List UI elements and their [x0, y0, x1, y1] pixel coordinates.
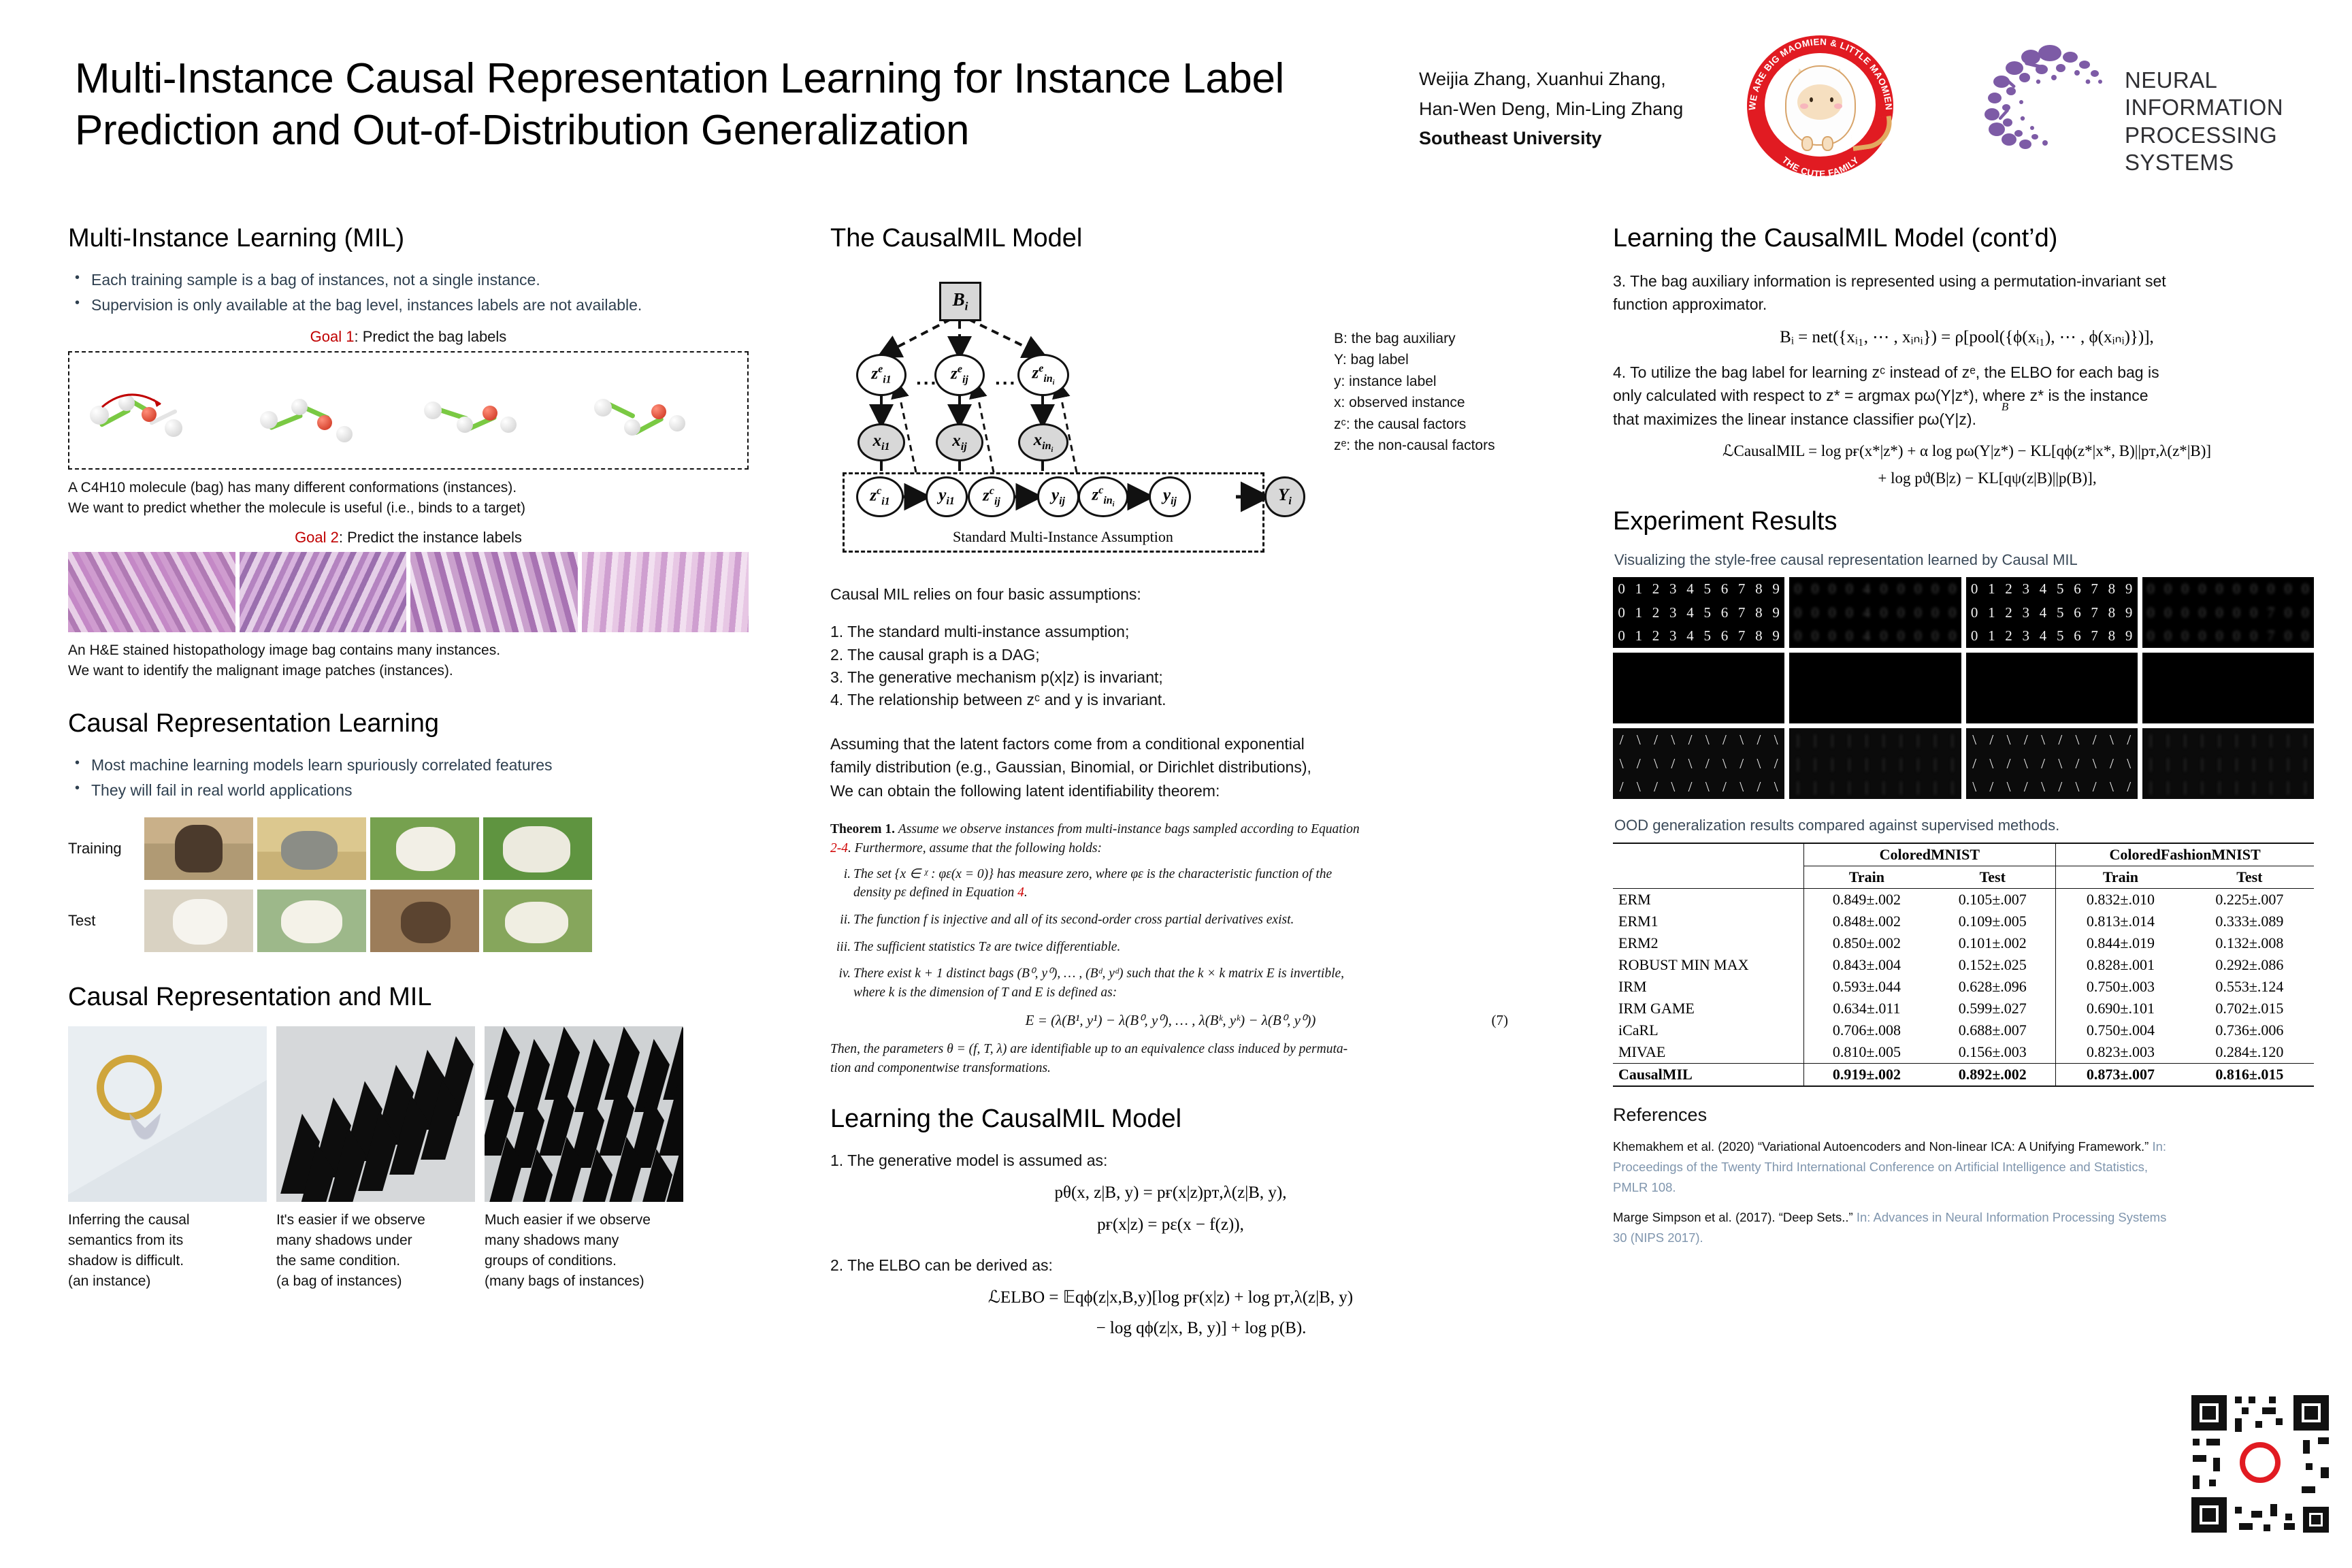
cell-value: 0.828±.001 [2056, 954, 2185, 976]
section-heading-causalmil-model: The CausalMIL Model [830, 225, 1511, 253]
cell-method: ERM2 [1613, 932, 1803, 954]
condition-ref: 4 [1017, 885, 1024, 900]
caption-line: semantics from its [68, 1230, 267, 1251]
qr-center-cat-inner [2245, 1448, 2275, 1477]
letter-grid: \/\/\/\/\/ /\/\/\/\/\ \/\/\/\/\/ [1966, 728, 2138, 799]
goal-2-label: Goal 2: Predict the instance labels [68, 529, 749, 546]
col-header-cmnist-test: Test [1929, 866, 2055, 889]
fashion-tile-blurred [1789, 653, 1961, 723]
graph-node-bag-label: Yi [1264, 476, 1305, 517]
goal-1-text: : Predict the bag labels [355, 328, 507, 345]
test-label: Test [68, 912, 129, 930]
legend-item: zᵉ: the non-causal factors [1334, 435, 1495, 457]
cat-paw-left-icon [1801, 136, 1813, 151]
digit-grid: 0123456789 0123456789 0123456789 [1966, 577, 2138, 648]
theorem-condition: iii. The sufficient statistics Tғ are tw… [853, 938, 1511, 957]
step-4-line-3: that maximizes the linear instance class… [1613, 408, 2321, 431]
fashion-grid [2142, 653, 2314, 723]
theorem-label: Theorem 1. [830, 822, 895, 836]
graph-node-x-n: xini [1018, 423, 1068, 461]
legend-item: Y: bag label [1334, 349, 1495, 371]
theorem-text-a: Assume we observe instances from multi-i… [898, 822, 1360, 836]
legend-item: zᶜ: the causal factors [1334, 414, 1495, 436]
cell-method: ROBUST MIN MAX [1613, 954, 1803, 976]
cell-method: ERM1 [1613, 911, 1803, 932]
caption-line: Much easier if we observe [485, 1210, 683, 1230]
cat-eye-left-icon [1810, 97, 1813, 102]
cell-value: 0.844±.019 [2056, 932, 2185, 954]
molecule-figure [68, 351, 749, 470]
cell-value: 0.816±.015 [2185, 1064, 2314, 1087]
condition-text: The function f is injective and all of i… [853, 913, 1294, 927]
node-sub: i [965, 299, 968, 312]
graph-node-zc-n: zcini [1078, 476, 1128, 517]
theorem-equation-row: E = (λ(B¹, y¹) − λ(B⁰, y⁰), … , λ(Bᵏ, yᵏ… [830, 1011, 1511, 1031]
graph-node-y-1: yi1 [926, 476, 968, 517]
many-birds-shadow-image [485, 1026, 683, 1202]
molecule-caption-line-2: We want to predict whether the molecule … [68, 498, 749, 519]
list-item: Most machine learning models learn spuri… [91, 753, 749, 777]
assumptions-list: 1. The standard multi-instance assumptio… [830, 621, 1511, 711]
page-title: Multi-Instance Causal Representation Lea… [75, 53, 1409, 156]
cell-value: 0.843±.004 [1803, 954, 1929, 976]
learning-step-1-eq-2: pғ(x|z) = pε(x − f(z)), [830, 1212, 1511, 1239]
molecule-caption-line-1: A C4H10 molecule (bag) has many differen… [68, 478, 749, 498]
training-images [144, 817, 592, 880]
digit-grid: 0000400000 0000400000 0000400000 [1789, 577, 1961, 648]
goal-2-key: Goal 2 [295, 529, 339, 546]
histology-patch [68, 552, 235, 632]
histopathology-caption: An H&E stained histopathology image bag … [68, 640, 749, 681]
cell-value: 0.333±.089 [2185, 911, 2314, 932]
curved-arrow-icon [95, 382, 170, 418]
section-heading-mil: Multi-Instance Learning (MIL) [68, 225, 749, 253]
shadow-column: Inferring the causal semantics from its … [68, 1026, 267, 1291]
neurips-logo: NEURAL INFORMATION PROCESSING SYSTEMS [1974, 42, 2334, 151]
fashion-tile-sharp [1613, 653, 1784, 723]
caption-line: Inferring the causal [68, 1210, 267, 1230]
theorem-equation: E = (λ(B¹, y¹) − λ(B⁰, y⁰), … , λ(Bᵏ, yᵏ… [1026, 1012, 1316, 1028]
letter-grid: |||||||||| |||||||||| |||||||||| [1789, 728, 1961, 799]
reference-title: Marge Simpson et al. (2017). “Deep Sets.… [1613, 1210, 1853, 1224]
condition-text: There exist k + 1 distinct bags (B⁰, y⁰)… [853, 966, 1344, 981]
condition-text: The set {x ∈ ᵡ : φε(x = 0)} has measure … [853, 867, 1332, 881]
cell-method: IRM [1613, 976, 1803, 998]
reference-item: Marge Simpson et al. (2017). “Deep Sets.… [1613, 1207, 2178, 1248]
cell-value: 0.628±.096 [1929, 976, 2055, 998]
cell-value: 0.813±.014 [2056, 911, 2185, 932]
poster-header: Multi-Instance Causal Representation Lea… [0, 0, 2352, 204]
shadow-column: Much easier if we observe many shadows m… [485, 1026, 683, 1291]
theorem-conditions: i. The set {x ∈ ᵡ : φε(x = 0)} has measu… [830, 865, 1511, 1002]
table-row: ROBUST MIN MAX0.843±.0040.152±.0250.828±… [1613, 954, 2314, 976]
assumption-item: 4. The relationship between zᶜ and y is … [830, 689, 1511, 711]
theorem-block: Theorem 1. Assume we observe instances f… [830, 820, 1511, 1078]
cell-method: CausalMIL [1613, 1064, 1803, 1087]
cell-value: 0.702±.015 [2185, 998, 2314, 1019]
molecule-row [78, 359, 739, 461]
closing-line: Then, the parameters θ = (f, T, λ) are i… [830, 1040, 1511, 1059]
caption-line: many shadows under [276, 1230, 475, 1251]
caption-line: (many bags of instances) [485, 1271, 683, 1292]
logo-arc-bottom-text: THE CUTE FAMILY [1780, 154, 1861, 179]
table-row: ERM0.849±.0020.105±.0070.832±.0100.225±.… [1613, 889, 2314, 911]
legend-item: B: the bag auxiliary [1334, 328, 1495, 350]
molecule-instance [245, 359, 406, 461]
learning-step-2-eq-2: − log qϕ(z|x, B, y)] + log p(B). [830, 1316, 1511, 1342]
neurips-swirl-icon [1974, 42, 2120, 151]
neurips-line-2: PROCESSING SYSTEMS [2125, 122, 2334, 177]
letter-grid: /\/\/\/\/\ \/\/\/\/\/ /\/\/\/\/\ [1613, 728, 1784, 799]
cell-value: 0.156±.003 [1929, 1041, 2055, 1064]
references-heading: References [1613, 1105, 2321, 1126]
animal-image [483, 889, 592, 952]
animal-image [144, 817, 253, 880]
list-item: They will fail in real world application… [91, 779, 749, 802]
molecule-caption: A C4H10 molecule (bag) has many differen… [68, 478, 749, 519]
condition-numeral: i. [832, 865, 851, 884]
cell-value: 0.634±.011 [1803, 998, 1929, 1019]
table-body: ERM0.849±.0020.105±.0070.832±.0100.225±.… [1613, 889, 2314, 1087]
table-row: ERM20.850±.0020.101±.0020.844±.0190.132±… [1613, 932, 2314, 954]
caption-line: It's easier if we observe [276, 1210, 475, 1230]
cell-value: 0.919±.002 [1803, 1064, 1929, 1087]
cell-value: 0.553±.124 [2185, 976, 2314, 998]
histology-patch [240, 552, 407, 632]
theorem-statement: Theorem 1. Assume we observe instances f… [830, 820, 1511, 857]
condition-numeral: ii. [832, 911, 851, 930]
node-label: B [953, 289, 965, 310]
animal-image [144, 889, 253, 952]
cell-value: 0.736±.006 [2185, 1019, 2314, 1041]
histology-patch [410, 552, 578, 632]
author-block: Weijia Zhang, Xuanhui Zhang, Han-Wen Den… [1419, 65, 1725, 154]
graph-ellipsis: ... [995, 367, 1017, 389]
theorem-eq-ref: 2-4 [830, 841, 848, 855]
cat-eye-right-icon [1830, 97, 1833, 102]
table-row: iCaRL0.706±.0080.688±.0070.750±.0040.736… [1613, 1019, 2314, 1041]
section-heading-experiments: Experiment Results [1613, 508, 2321, 536]
mnist-tile-sharp: 0123456789 0123456789 0123456789 [1966, 577, 2138, 648]
cell-value: 0.810±.005 [1803, 1041, 1929, 1064]
goal-1-label: Goal 1: Predict the bag labels [68, 328, 749, 346]
table-head: ColoredMNIST ColoredFashionMNIST Train T… [1613, 843, 2314, 889]
table-row-highlight: CausalMIL0.919±.0020.892±.0020.873±.0070… [1613, 1064, 2314, 1087]
fashion-grid [1966, 653, 2138, 723]
caption-line: groups of conditions. [485, 1251, 683, 1271]
col-header-cfmnist-test: Test [2185, 866, 2314, 889]
list-item: Each training sample is a bag of instanc… [91, 268, 749, 292]
section-heading-crl: Causal Representation Learning [68, 710, 749, 738]
cat-face-icon [1797, 84, 1842, 120]
standard-mi-assumption-label: Standard Multi-Instance Assumption [953, 528, 1173, 546]
condition-text-b: where k is the dimension of T and E is d… [853, 985, 1117, 1000]
qr-code[interactable] [2189, 1392, 2332, 1535]
goal-1-key: Goal 1 [310, 328, 355, 345]
caption-line: (a bag of instances) [276, 1271, 475, 1292]
shadow-figure-row: Inferring the causal semantics from its … [68, 1026, 749, 1291]
animal-image [370, 817, 479, 880]
learning-step-2: 2. The ELBO can be derived as: [830, 1254, 1511, 1277]
cell-method: MIVAE [1613, 1041, 1803, 1064]
group-header-coloredmnist: ColoredMNIST [1803, 843, 2056, 866]
graph-node-ze-n: zeini [1017, 354, 1069, 396]
animal-image [257, 889, 366, 952]
neurips-wordmark: NEURAL INFORMATION PROCESSING SYSTEMS [2125, 67, 2334, 176]
legend-item: x: observed instance [1334, 392, 1495, 414]
caption-line: shadow is difficult. [68, 1251, 267, 1271]
cell-value: 0.225±.007 [2185, 889, 2314, 911]
learning-step-4: 4. To utilize the bag label for learning… [1613, 361, 2321, 431]
goal-2-text: : Predict the instance labels [339, 529, 522, 546]
mnist-visualization-grid: 0123456789 0123456789 0123456789 0000400… [1613, 577, 2314, 799]
caption-line: the same condition. [276, 1251, 475, 1271]
reference-item: Khemakhem et al. (2020) “Variational Aut… [1613, 1137, 2178, 1198]
graph-node-x-j: xij [936, 423, 983, 461]
cell-value: 0.284±.120 [2185, 1041, 2314, 1064]
paragraph-line: family distribution (e.g., Gaussian, Bin… [830, 755, 1511, 779]
cell-method: IRM GAME [1613, 998, 1803, 1019]
learning-step-3-eq: Bᵢ = net({xᵢ₁, ⋯ , xᵢₙᵢ}) = ρ[pool({ϕ(xᵢ… [1613, 325, 2321, 351]
cell-method: iCaRL [1613, 1019, 1803, 1041]
legend-item: y: instance label [1334, 371, 1495, 393]
shadow-caption-2: It's easier if we observe many shadows u… [276, 1210, 475, 1291]
cell-value: 0.873±.007 [2056, 1064, 2185, 1087]
letter-tile-sharp: /\/\/\/\/\ \/\/\/\/\/ /\/\/\/\/\ [1613, 728, 1784, 799]
molecule-instance [78, 359, 238, 461]
fashion-tile-blurred [2142, 653, 2314, 723]
table-row: MIVAE0.810±.0050.156±.0030.823±.0030.284… [1613, 1041, 2314, 1064]
learning-step-3: 3. The bag auxiliary information is repr… [1613, 269, 2321, 316]
cell-value: 0.132±.008 [2185, 932, 2314, 954]
svg-text:THE CUTE FAMILY: THE CUTE FAMILY [1780, 154, 1861, 179]
letter-tile-blurred: |||||||||| |||||||||| |||||||||| [2142, 728, 2314, 799]
reference-title: Khemakhem et al. (2020) “Variational Aut… [1613, 1139, 2149, 1154]
graph-node-y-n: yij [1149, 476, 1191, 517]
graph-node-x-1: xi1 [857, 423, 905, 461]
paragraph-line: We can obtain the following latent ident… [830, 779, 1511, 803]
graph-node-bag-auxiliary: Bi [939, 282, 981, 321]
section-heading-crl-mil: Causal Representation and MIL [68, 983, 749, 1012]
assumption-item: 3. The generative mechanism p(x|z) is in… [830, 666, 1511, 689]
digit-grid: 0000000000 0000000700 0000000700 [2142, 577, 2314, 648]
cell-value: 0.892±.002 [1929, 1064, 2055, 1087]
test-images [144, 889, 592, 952]
equation-number: (7) [1492, 1011, 1509, 1031]
learning-step-4-eq-1: ℒCausalMIL = log pғ(x*|z*) + α log pω(Y|… [1613, 439, 2321, 463]
visualization-caption: Visualizing the style-free causal repres… [1614, 551, 2321, 569]
heart-shadow-icon [101, 1101, 189, 1203]
list-item: Supervision is only available at the bag… [91, 293, 749, 317]
animal-image [257, 817, 366, 880]
left-column: Multi-Instance Learning (MIL) Each train… [68, 225, 749, 1292]
ring-shadow-image [68, 1026, 267, 1202]
learning-step-2-eq-1: ℒELBO = 𝔼qϕ(z|x,B,y)[log pғ(x|z) + log p… [830, 1285, 1511, 1311]
section-heading-learning-contd: Learning the CausalMIL Model (cont’d) [1613, 225, 2321, 253]
mnist-tile-blurred: 0000400000 0000400000 0000400000 [1789, 577, 1961, 648]
cat-cheek-left-icon [1800, 103, 1808, 109]
col-header-cfmnist-train: Train [2056, 866, 2185, 889]
mnist-tile-sharp: 0123456789 0123456789 0123456789 [1613, 577, 1784, 648]
graph-node-ze-j: zeij [934, 354, 985, 396]
affiliation: Southeast University [1419, 124, 1725, 154]
condition-text-b: density pε defined in Equation [853, 885, 1017, 900]
cell-value: 0.750±.003 [2056, 976, 2185, 998]
histopathology-figure [68, 552, 749, 632]
cell-value: 0.832±.010 [2056, 889, 2185, 911]
theorem-text-b: . Furthermore, assume that the following… [848, 841, 1102, 855]
paragraph-line: Assuming that the latent factors come fr… [830, 732, 1511, 756]
learning-step-1: 1. The generative model is assumed as: [830, 1149, 1511, 1173]
theorem-closing: Then, the parameters θ = (f, T, λ) are i… [830, 1040, 1511, 1077]
cat-cheek-right-icon [1834, 103, 1842, 109]
table-caption: OOD generalization results compared agai… [1614, 817, 2321, 834]
letter-grid: |||||||||| |||||||||| |||||||||| [2142, 728, 2314, 799]
training-image-row: Training [68, 817, 749, 880]
cell-value: 0.690±.101 [2056, 998, 2185, 1019]
table-row: ERM10.848±.0020.109±.0050.813±.0140.333±… [1613, 911, 2314, 932]
table-group-header-row: ColoredMNIST ColoredFashionMNIST [1613, 843, 2314, 866]
graph-legend: B: the bag auxiliary Y: bag label y: ins… [1334, 328, 1495, 457]
table-row: IRM GAME0.634±.0110.599±.0270.690±.1010.… [1613, 998, 2314, 1019]
cell-value: 0.750±.004 [2056, 1019, 2185, 1041]
graph-node-y-j: yij [1037, 476, 1079, 517]
theorem-condition: i. The set {x ∈ ᵡ : φε(x = 0)} has measu… [853, 865, 1511, 902]
cell-value: 0.706±.008 [1803, 1019, 1929, 1041]
assumption-item: 2. The causal graph is a DAG; [830, 644, 1511, 666]
authors-line-1: Weijia Zhang, Xuanhui Zhang, [1419, 65, 1725, 95]
latent-assumption-paragraph: Assuming that the latent factors come fr… [830, 732, 1511, 803]
cell-value: 0.848±.002 [1803, 911, 1929, 932]
cell-value: 0.101±.002 [1929, 932, 2055, 954]
condition-numeral: iv. [832, 964, 851, 983]
condition-text-c: . [1024, 885, 1028, 900]
group-header-coloredfashionmnist: ColoredFashionMNIST [2056, 843, 2314, 866]
birds-shadow-image [276, 1026, 475, 1202]
mnist-tile-blurred: 0000000000 0000000700 0000000700 [2142, 577, 2314, 648]
closing-line: tion and componentwise transformations. [830, 1059, 1511, 1078]
graph-node-ze-1: zei1 [856, 354, 906, 396]
fashion-grid [1789, 653, 1961, 723]
step-4-line-2-text: only calculated with respect to z* = arg… [1613, 387, 2148, 404]
cell-value: 0.105±.007 [1929, 889, 2055, 911]
ood-results-table: ColoredMNIST ColoredFashionMNIST Train T… [1613, 843, 2314, 1087]
col-header-cmnist-train: Train [1803, 866, 1929, 889]
cell-method: ERM [1613, 889, 1803, 911]
cell-value: 0.109±.005 [1929, 911, 2055, 932]
cat-mascot-logo: WE ARE BIG MAOMIEN & LITTLE MAOMIEN THE … [1739, 33, 1912, 179]
middle-column: The CausalMIL Model [830, 225, 1511, 1350]
letter-tile-sharp: \/\/\/\/\/ /\/\/\/\/\ \/\/\/\/\/ [1966, 728, 2138, 799]
cell-value: 0.688±.007 [1929, 1019, 2055, 1041]
qr-center-cat-logo [2238, 1440, 2283, 1485]
cat-paw-right-icon [1822, 136, 1833, 151]
graph-node-zc-j: zcij [968, 476, 1015, 517]
fashion-tile-sharp [1966, 653, 2138, 723]
test-image-row: Test [68, 889, 749, 952]
step-4-line-2: only calculated with respect to z* = arg… [1613, 384, 2321, 408]
step-3-line-1: 3. The bag auxiliary information is repr… [1613, 269, 2321, 293]
table-column-header-row: Train Test Train Test [1613, 866, 2314, 889]
section-heading-learning: Learning the CausalMIL Model [830, 1105, 1511, 1134]
neurips-line-1: NEURAL INFORMATION [2125, 67, 2334, 122]
shadow-caption-1: Inferring the causal semantics from its … [68, 1210, 267, 1291]
cell-value: 0.823±.003 [2056, 1041, 2185, 1064]
cell-value: 0.292±.086 [2185, 954, 2314, 976]
theorem-condition: ii. The function f is injective and all … [853, 911, 1511, 930]
argmax-subscript: B [2002, 398, 2008, 416]
table-row: IRM0.593±.0440.628±.0960.750±.0030.553±.… [1613, 976, 2314, 998]
learning-step-1-eq-1: pθ(x, z|B, y) = pғ(x|z)pᴛ,λ(z|B, y), [830, 1180, 1511, 1207]
cell-value: 0.849±.002 [1803, 889, 1929, 911]
causal-graph-figure: Bi zei1 ... zeij ... zeini xi1 xij xini … [830, 268, 1511, 568]
cell-value: 0.152±.025 [1929, 954, 2055, 976]
shadow-caption-3: Much easier if we observe many shadows m… [485, 1210, 683, 1291]
digit-grid: 0123456789 0123456789 0123456789 [1613, 577, 1784, 648]
histo-caption-line-1: An H&E stained histopathology image bag … [68, 640, 749, 661]
col-header-method [1613, 843, 1803, 866]
step-4-line-1: 4. To utilize the bag label for learning… [1613, 361, 2321, 385]
assumption-item: 1. The standard multi-instance assumptio… [830, 621, 1511, 643]
right-column: Learning the CausalMIL Model (cont’d) 3.… [1613, 225, 2321, 1258]
step-3-line-2: function approximator. [1613, 293, 2321, 316]
caption-line: (an instance) [68, 1271, 267, 1292]
graph-node-zc-1: zci1 [856, 476, 904, 517]
caption-line: many shadows many [485, 1230, 683, 1251]
learning-step-4-eq-2: + log pϑ(B|z) − KL[qψ(z|B)||p(B)], [1613, 466, 2321, 491]
condition-numeral: iii. [832, 938, 851, 957]
fashion-grid [1613, 653, 1784, 723]
histo-caption-line-2: We want to identify the malignant image … [68, 661, 749, 681]
molecule-instance [412, 359, 572, 461]
condition-text: The sufficient statistics Tғ are twice d… [853, 940, 1120, 954]
animal-image [483, 817, 592, 880]
assumptions-intro: Causal MIL relies on four basic assumpti… [830, 583, 1511, 606]
shadow-column: It's easier if we observe many shadows u… [276, 1026, 475, 1291]
molecule-instance [579, 359, 740, 461]
training-label: Training [68, 840, 129, 857]
authors-line-2: Han-Wen Deng, Min-Ling Zhang [1419, 95, 1725, 125]
theorem-condition: iv. There exist k + 1 distinct bags (B⁰,… [853, 964, 1511, 1002]
crl-bullet-list: Most machine learning models learn spuri… [68, 753, 749, 802]
animal-image [370, 889, 479, 952]
col-header-blank [1613, 866, 1803, 889]
cell-value: 0.599±.027 [1929, 998, 2055, 1019]
histology-patch [582, 552, 749, 632]
cell-value: 0.593±.044 [1803, 976, 1929, 998]
letter-tile-blurred: |||||||||| |||||||||| |||||||||| [1789, 728, 1961, 799]
mil-bullet-list: Each training sample is a bag of instanc… [68, 268, 749, 317]
cell-value: 0.850±.002 [1803, 932, 1929, 954]
